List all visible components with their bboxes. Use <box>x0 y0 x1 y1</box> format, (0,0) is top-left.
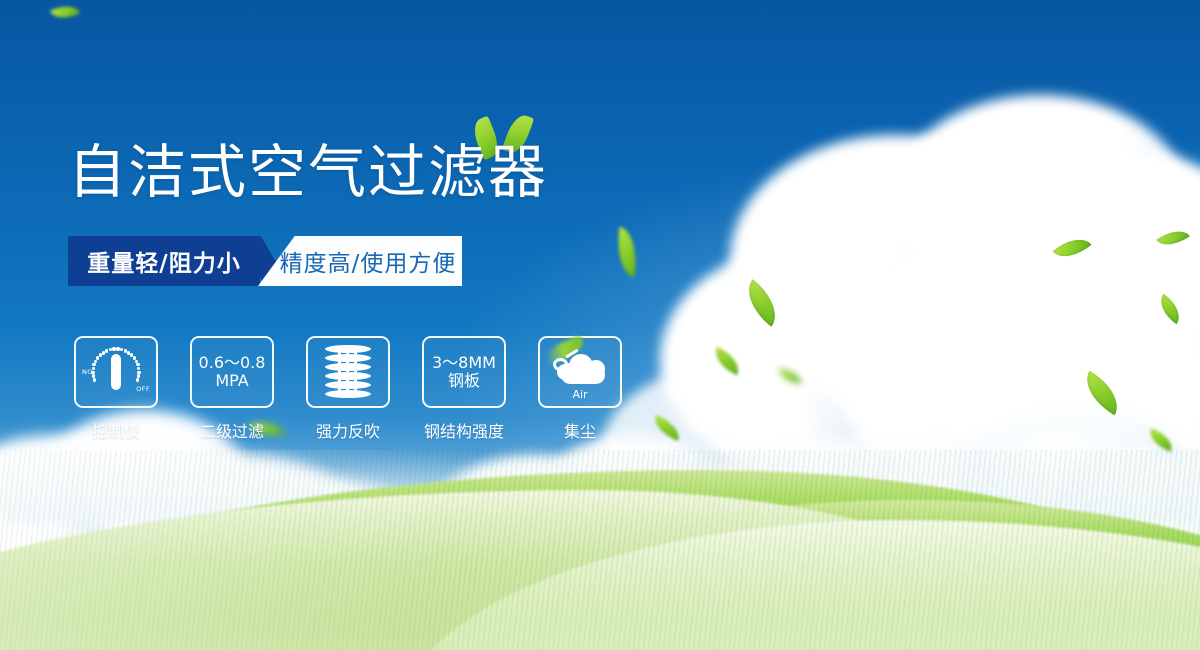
subtitle-left-text: 重量轻/阻力小 <box>87 244 240 278</box>
feature-item-dust[interactable]: Air 集尘 <box>538 336 622 442</box>
control-dial-icon: NO OFF <box>83 344 149 400</box>
dial-tick-icon <box>91 371 94 374</box>
feature-label: 二级过滤 <box>200 418 264 442</box>
dial-knob-icon <box>111 354 121 390</box>
air-cloud-icon: Air <box>549 348 611 396</box>
feature-icon-box: Air <box>538 336 622 408</box>
dial-tick-icon <box>136 363 139 366</box>
dial-tick-icon <box>93 378 96 381</box>
feature-icon-box <box>306 336 390 408</box>
feature-item-control[interactable]: NO OFF 控制仪 <box>74 336 158 442</box>
dial-tick-icon <box>92 374 95 377</box>
feature-icon-box: 3～8MM 钢板 <box>422 336 506 408</box>
dial-tick-icon <box>94 360 97 363</box>
feature-item-pressure[interactable]: 0.6～0.8 MPA 二级过滤 <box>190 336 274 442</box>
steel-value-line2: 钢板 <box>448 372 480 390</box>
subtitle-bar: 重量轻/阻力小 精度高/使用方便 <box>68 236 462 286</box>
feature-icon-box: NO OFF <box>74 336 158 408</box>
feature-label: 控制仪 <box>92 418 140 442</box>
product-banner: 自洁式空气过滤器 重量轻/阻力小 精度高/使用方便 NO OFF 控制仪 <box>0 0 1200 650</box>
dial-off-label: OFF <box>136 385 150 393</box>
subtitle-segment-right: 精度高/使用方便 <box>258 236 462 286</box>
dial-tick-icon <box>105 349 108 352</box>
feature-label: 集尘 <box>564 418 596 442</box>
air-label: Air <box>549 388 611 401</box>
pressure-value-line2: MPA <box>215 372 248 390</box>
dial-tick-icon <box>92 367 95 370</box>
pressure-value-line1: 0.6～0.8 <box>199 354 266 372</box>
dial-tick-icon <box>137 367 140 370</box>
feature-list: NO OFF 控制仪 0.6～0.8 MPA 二级过滤 <box>74 336 622 442</box>
dial-tick-icon <box>120 348 123 351</box>
filter-coil-icon <box>325 345 371 399</box>
feature-label: 强力反吹 <box>316 418 380 442</box>
feature-label: 钢结构强度 <box>424 418 504 442</box>
grass-field <box>0 450 1200 650</box>
subtitle-right-text: 精度高/使用方便 <box>280 244 457 278</box>
subtitle-segment-left: 重量轻/阻力小 <box>68 236 260 286</box>
dial-tick-icon <box>92 363 95 366</box>
feature-item-steel[interactable]: 3～8MM 钢板 钢结构强度 <box>422 336 506 442</box>
steel-value-line1: 3～8MM <box>432 354 496 372</box>
feature-icon-box: 0.6～0.8 MPA <box>190 336 274 408</box>
feature-item-backblow[interactable]: 强力反吹 <box>306 336 390 442</box>
dial-tick-icon <box>136 378 139 381</box>
page-title: 自洁式空气过滤器 <box>68 142 548 203</box>
